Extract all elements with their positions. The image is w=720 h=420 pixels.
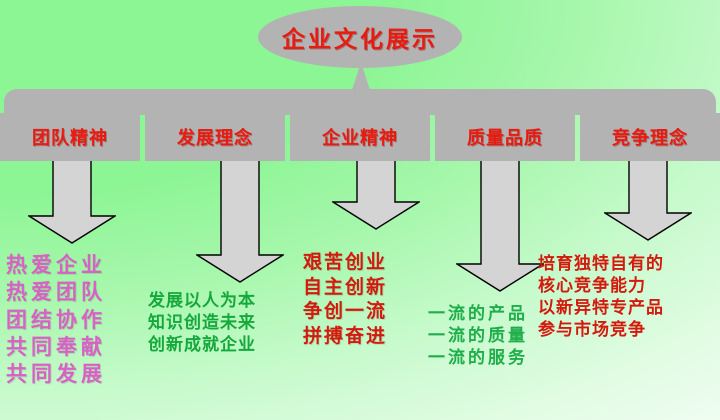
text-line: 一流的服务 xyxy=(428,347,528,369)
text-column-quality: 一流的产品 一流的质量 一流的服务 xyxy=(428,303,528,369)
text-line: 一流的质量 xyxy=(428,325,528,347)
header-box-quality[interactable]: 质量品质 xyxy=(435,113,575,161)
text-line: 团结协作 xyxy=(6,307,106,334)
text-line: 共同奉献 xyxy=(6,334,106,361)
page-title: 企业文化展示 xyxy=(282,20,438,54)
text-line: 参与市场竞争 xyxy=(538,319,664,341)
down-arrow-icon-4 xyxy=(456,158,544,292)
header-label: 质量品质 xyxy=(467,124,543,150)
down-arrow-icon-1 xyxy=(28,158,116,244)
header-label: 发展理念 xyxy=(177,124,253,150)
text-line: 发展以人为本 xyxy=(148,290,256,312)
text-column-competition-philosophy: 培育独特自有的 核心竞争能力 以新异特专产品 参与市场竞争 xyxy=(538,253,664,341)
header-label: 竞争理念 xyxy=(612,124,688,150)
slide-canvas: 企业文化展示 团队精神 发展理念 企业精神 质量品质 竞争理念 xyxy=(0,0,720,420)
text-column-team-spirit: 热爱企业 热爱团队 团结协作 共同奉献 共同发展 xyxy=(6,252,106,388)
down-arrow-icon-5 xyxy=(604,158,692,241)
header-box-enterprise-spirit[interactable]: 企业精神 xyxy=(290,113,430,161)
text-line: 艰苦创业 xyxy=(303,250,387,275)
text-line: 热爱团队 xyxy=(6,279,106,306)
header-box-competition-philosophy[interactable]: 竞争理念 xyxy=(580,113,720,161)
down-arrow-icon-3 xyxy=(332,158,420,230)
connector-bar xyxy=(4,89,716,115)
down-arrow-icon-2 xyxy=(196,158,284,283)
text-line: 自主创新 xyxy=(303,275,387,300)
text-column-enterprise-spirit: 艰苦创业 自主创新 争创一流 拼搏奋进 xyxy=(303,250,387,349)
title-ellipse: 企业文化展示 xyxy=(258,6,462,68)
text-line: 拼搏奋进 xyxy=(303,324,387,349)
text-line: 知识创造未来 xyxy=(148,312,256,334)
header-box-development-philosophy[interactable]: 发展理念 xyxy=(145,113,285,161)
header-label: 企业精神 xyxy=(322,124,398,150)
header-box-team-spirit[interactable]: 团队精神 xyxy=(0,113,140,161)
text-line: 以新异特专产品 xyxy=(538,297,664,319)
text-line: 一流的产品 xyxy=(428,303,528,325)
header-row: 团队精神 发展理念 企业精神 质量品质 竞争理念 xyxy=(0,113,720,161)
text-line: 核心竞争能力 xyxy=(538,275,664,297)
text-column-development-philosophy: 发展以人为本 知识创造未来 创新成就企业 xyxy=(148,290,256,356)
text-line: 争创一流 xyxy=(303,299,387,324)
text-line: 培育独特自有的 xyxy=(538,253,664,275)
text-line: 创新成就企业 xyxy=(148,334,256,356)
text-line: 热爱企业 xyxy=(6,252,106,279)
text-line: 共同发展 xyxy=(6,361,106,388)
header-label: 团队精神 xyxy=(32,124,108,150)
